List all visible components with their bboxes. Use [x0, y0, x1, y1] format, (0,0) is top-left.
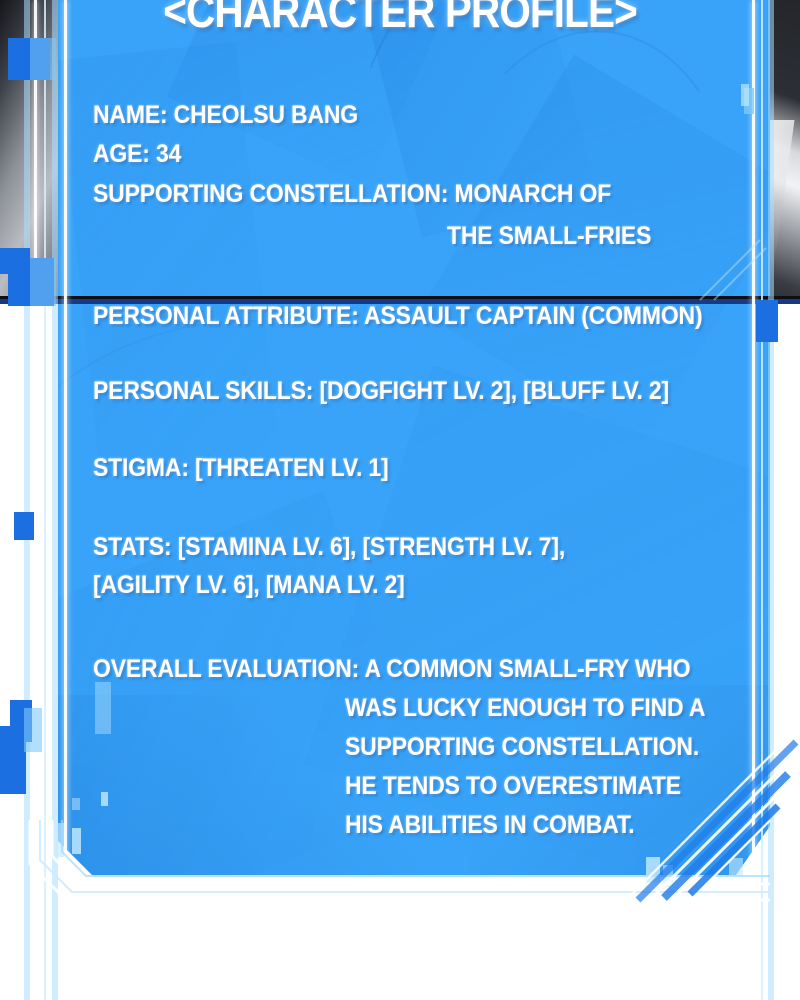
pixel-dot-3 — [72, 798, 80, 810]
field-constellation-cont: THE SMALL-FRIES — [447, 224, 651, 249]
pixel-dot-8 — [56, 823, 64, 857]
page-title-text: <CHARACTER PROFILE> — [163, 0, 637, 38]
pixel-dot-6 — [663, 865, 673, 887]
accent-block-left-lower-glow — [24, 708, 42, 752]
comic-page: <CHARACTER PROFILE> NAME: CHEOLSU BANG A… — [0, 0, 800, 1000]
field-evaluation-line-3: SUPPORTING CONSTELLATION. — [345, 735, 699, 760]
accent-block-left-lower-2 — [0, 726, 26, 794]
page-title: <CHARACTER PROFILE> — [0, 0, 800, 38]
field-name: NAME: CHEOLSU BANG — [93, 103, 358, 128]
accent-block-right-mid — [756, 300, 778, 342]
field-stigma: STIGMA: [THREATEN LV. 1] — [93, 456, 388, 481]
accent-block-left-stats — [14, 512, 34, 540]
field-skills: PERSONAL SKILLS: [DOGFIGHT LV. 2], [BLUF… — [93, 379, 669, 404]
pixel-dot-5 — [646, 857, 660, 883]
field-stats-line-1: STATS: [STAMINA LV. 6], [STRENGTH LV. 7]… — [93, 535, 565, 560]
field-evaluation-line-1: OVERALL EVALUATION: A COMMON SMALL-FRY W… — [93, 657, 690, 682]
field-evaluation-line-5: HIS ABILITIES IN COMBAT. — [345, 813, 634, 838]
accent-block-left-mid-step — [0, 248, 30, 274]
pixel-dot-4 — [95, 682, 111, 734]
field-age: AGE: 34 — [93, 142, 181, 167]
pixel-dot-9 — [741, 84, 749, 106]
accent-block-left-top-glow — [30, 38, 56, 80]
pixel-dot-7 — [729, 858, 743, 876]
pixel-dot-2 — [101, 792, 108, 806]
accent-block-left-mid-glow — [30, 258, 56, 306]
field-constellation: SUPPORTING CONSTELLATION: MONARCH OF — [93, 182, 611, 207]
field-evaluation-line-2: WAS LUCKY ENOUGH TO FIND A — [345, 696, 705, 721]
field-stats-line-2: [AGILITY LV. 6], [MANA LV. 2] — [93, 573, 405, 598]
field-attribute: PERSONAL ATTRIBUTE: ASSAULT CAPTAIN (COM… — [93, 304, 702, 329]
field-evaluation-line-4: HE TENDS TO OVERESTIMATE — [345, 774, 681, 799]
pixel-dot-1 — [72, 828, 81, 854]
